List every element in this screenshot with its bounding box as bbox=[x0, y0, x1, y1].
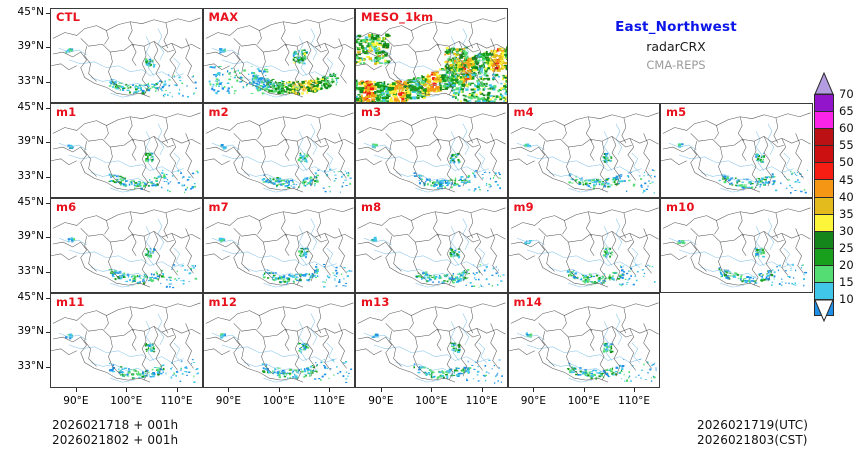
colorbar-tick-label: 10 bbox=[839, 293, 854, 305]
map-panel-m2: m2 bbox=[203, 103, 356, 198]
panel-label: MESO_1km bbox=[361, 11, 433, 23]
colorbar-tick-label: 50 bbox=[839, 156, 854, 168]
map-panel-max: MAX bbox=[203, 8, 356, 103]
footer-right-line2: 2026021803(CST) bbox=[697, 433, 808, 448]
colorbar-tick-label: 45 bbox=[839, 174, 854, 186]
map-panel-m3: m3 bbox=[355, 103, 508, 198]
colorbar-tick-label: 15 bbox=[839, 276, 854, 288]
panel-label: m8 bbox=[361, 201, 381, 213]
map-panel-meso_1km: MESO_1km bbox=[355, 8, 508, 103]
latitude-tick-mark bbox=[46, 203, 50, 204]
longitude-tick-label: 100°E bbox=[559, 396, 609, 407]
colorbar-segment bbox=[814, 282, 834, 299]
longitude-tick-label: 90°E bbox=[356, 396, 406, 407]
map-panel-m14: m14 bbox=[508, 293, 661, 388]
latitude-tick-label: 39°N bbox=[2, 41, 44, 52]
colorbar-tick-label: 40 bbox=[839, 191, 854, 203]
footer-right-line1: 2026021719(UTC) bbox=[697, 418, 808, 433]
model-name: CMA-REPS bbox=[556, 56, 796, 74]
latitude-tick-mark bbox=[46, 367, 50, 368]
colorbar-segment bbox=[814, 197, 834, 214]
latitude-tick-label: 45°N bbox=[2, 102, 44, 113]
colorbar-tick-label: 65 bbox=[839, 105, 854, 117]
colorbar-segment bbox=[814, 248, 834, 265]
panel-label: m10 bbox=[666, 201, 695, 213]
footer-left-line1: 2026021718 + 001h bbox=[52, 418, 178, 433]
longitude-tick-mark bbox=[177, 388, 178, 392]
panel-label: m13 bbox=[361, 296, 390, 308]
figure-header: East_Northwest radarCRX CMA-REPS bbox=[556, 18, 796, 74]
longitude-tick-mark bbox=[329, 388, 330, 392]
longitude-tick-mark bbox=[533, 388, 534, 392]
colorbar-tick-label: 55 bbox=[839, 139, 854, 151]
latitude-tick-mark bbox=[46, 298, 50, 299]
latitude-tick-mark bbox=[46, 47, 50, 48]
colorbar-segment bbox=[814, 162, 834, 179]
footer-right: 2026021719(UTC) 2026021803(CST) bbox=[697, 418, 808, 448]
latitude-tick-label: 45°N bbox=[2, 7, 44, 18]
longitude-tick-label: 100°E bbox=[254, 396, 304, 407]
colorbar-tick-label: 30 bbox=[839, 225, 854, 237]
map-panel-empty bbox=[660, 293, 813, 388]
longitude-tick-label: 110°E bbox=[152, 396, 202, 407]
longitude-tick-mark bbox=[482, 388, 483, 392]
panel-label: m9 bbox=[514, 201, 534, 213]
variable-name: radarCRX bbox=[556, 37, 796, 56]
colorbar-extend-top-arrow bbox=[814, 72, 834, 95]
map-panel-m4: m4 bbox=[508, 103, 661, 198]
longitude-tick-mark bbox=[584, 388, 585, 392]
longitude-tick-label: 90°E bbox=[51, 396, 101, 407]
longitude-tick-label: 90°E bbox=[508, 396, 558, 407]
latitude-tick-label: 45°N bbox=[2, 292, 44, 303]
latitude-tick-mark bbox=[46, 108, 50, 109]
latitude-tick-mark bbox=[46, 82, 50, 83]
longitude-tick-mark bbox=[381, 388, 382, 392]
longitude-tick-label: 110°E bbox=[457, 396, 507, 407]
map-panel-m13: m13 bbox=[355, 293, 508, 388]
latitude-tick-label: 33°N bbox=[2, 171, 44, 182]
panel-label: m5 bbox=[666, 106, 686, 118]
panel-label: m7 bbox=[209, 201, 229, 213]
longitude-tick-label: 100°E bbox=[406, 396, 456, 407]
map-panel-m1: m1 bbox=[50, 103, 203, 198]
panel-label: m6 bbox=[56, 201, 76, 213]
panel-label: m11 bbox=[56, 296, 85, 308]
panel-label: m2 bbox=[209, 106, 229, 118]
latitude-tick-label: 39°N bbox=[2, 326, 44, 337]
latitude-tick-mark bbox=[46, 272, 50, 273]
map-panel-m9: m9 bbox=[508, 198, 661, 293]
colorbar-tick-label: 60 bbox=[839, 122, 854, 134]
colorbar-extend-bottom-arrow bbox=[814, 299, 834, 322]
map-panel-m5: m5 bbox=[660, 103, 813, 198]
map-panel-m11: m11 bbox=[50, 293, 203, 388]
colorbar-tick-label: 70 bbox=[839, 88, 854, 100]
map-panel-ctl: CTL bbox=[50, 8, 203, 103]
map-panel-m10: m10 bbox=[660, 198, 813, 293]
latitude-tick-label: 39°N bbox=[2, 136, 44, 147]
colorbar-segment bbox=[814, 179, 834, 196]
map-panel-m8: m8 bbox=[355, 198, 508, 293]
map-panel-m12: m12 bbox=[203, 293, 356, 388]
map-panel-m7: m7 bbox=[203, 198, 356, 293]
longitude-tick-mark bbox=[634, 388, 635, 392]
longitude-tick-mark bbox=[126, 388, 127, 392]
footer-left: 2026021718 + 001h 2026021802 + 001h bbox=[52, 418, 178, 448]
longitude-tick-label: 100°E bbox=[101, 396, 151, 407]
latitude-tick-mark bbox=[46, 13, 50, 14]
colorbar-segment bbox=[814, 231, 834, 248]
longitude-tick-mark bbox=[76, 388, 77, 392]
longitude-tick-mark bbox=[431, 388, 432, 392]
latitude-tick-mark bbox=[46, 142, 50, 143]
footer-left-line2: 2026021802 + 001h bbox=[52, 433, 178, 448]
colorbar-segment bbox=[814, 265, 834, 282]
latitude-tick-mark bbox=[46, 237, 50, 238]
longitude-tick-mark bbox=[228, 388, 229, 392]
colorbar-tick-label: 35 bbox=[839, 208, 854, 220]
panel-label: m12 bbox=[209, 296, 238, 308]
latitude-tick-label: 33°N bbox=[2, 76, 44, 87]
panel-label: MAX bbox=[209, 11, 239, 23]
colorbar-segment bbox=[814, 145, 834, 162]
latitude-tick-label: 33°N bbox=[2, 266, 44, 277]
region-title: East_Northwest bbox=[556, 18, 796, 37]
figure-canvas: CTLMAXMESO_1kmm1m2m3m4m5m6m7m8m9m10m11m1… bbox=[0, 0, 860, 456]
latitude-tick-label: 45°N bbox=[2, 197, 44, 208]
latitude-tick-mark bbox=[46, 177, 50, 178]
colorbar-tick-label: 20 bbox=[839, 259, 854, 271]
longitude-tick-label: 110°E bbox=[304, 396, 354, 407]
panel-label: m4 bbox=[514, 106, 534, 118]
colorbar-segments bbox=[814, 94, 834, 316]
panel-label: m3 bbox=[361, 106, 381, 118]
longitude-tick-mark bbox=[279, 388, 280, 392]
colorbar-segment bbox=[814, 214, 834, 231]
latitude-tick-label: 33°N bbox=[2, 361, 44, 372]
panel-label: m14 bbox=[514, 296, 543, 308]
colorbar-tick-label: 25 bbox=[839, 242, 854, 254]
panel-label: m1 bbox=[56, 106, 76, 118]
panel-label: CTL bbox=[56, 11, 80, 23]
longitude-tick-label: 90°E bbox=[203, 396, 253, 407]
colorbar-segment bbox=[814, 111, 834, 128]
map-panel-m6: m6 bbox=[50, 198, 203, 293]
latitude-tick-label: 39°N bbox=[2, 231, 44, 242]
latitude-tick-mark bbox=[46, 332, 50, 333]
longitude-tick-label: 110°E bbox=[609, 396, 659, 407]
colorbar: 10152025303540455055606570 bbox=[810, 72, 860, 330]
colorbar-segment bbox=[814, 128, 834, 145]
colorbar-segment bbox=[814, 94, 834, 111]
